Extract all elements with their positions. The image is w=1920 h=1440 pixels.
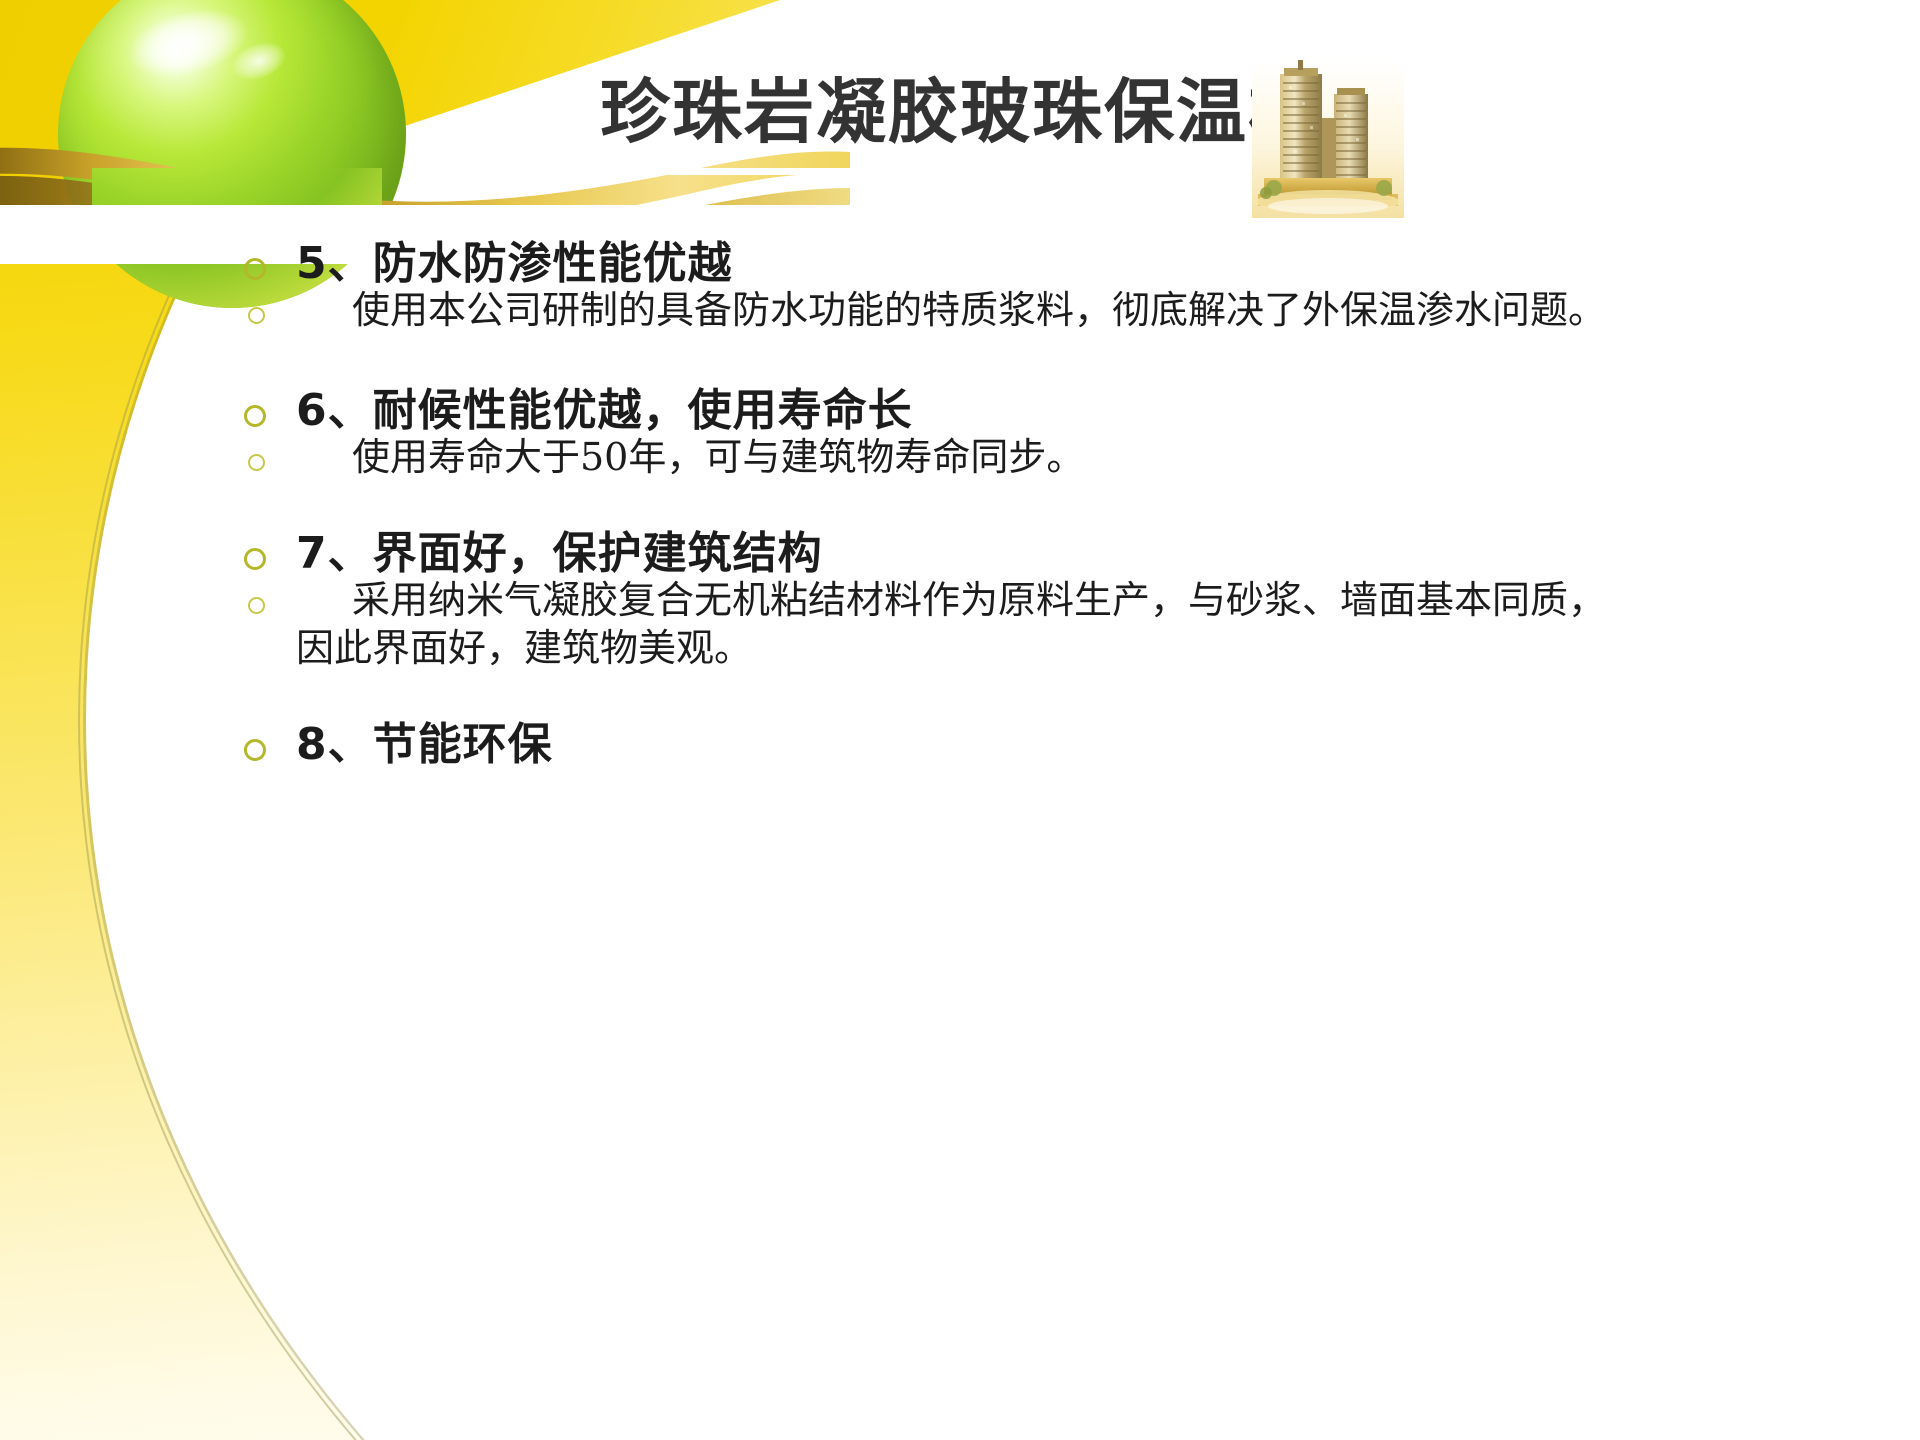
page-title: 珍珠岩凝胶玻珠保温板 [600,76,1320,150]
list-item: 8、节能环保 [236,717,1916,772]
bullet-marker-container [236,434,296,471]
item-heading: 8、节能环保 [296,717,553,772]
item-heading: 7、界面好，保护建筑结构 [296,526,823,581]
circle-outline-icon [248,307,265,324]
bullet-marker-container [236,383,296,427]
item-body: 使用寿命大于50年，可与建筑物寿命同步。 [296,434,1084,482]
bullet-marker-container [236,717,296,761]
circle-outline-icon [248,597,265,614]
circle-outline-icon [244,258,266,280]
spacer [236,482,1916,526]
slide-body-content: 5、防水防渗性能优越 使用本公司研制的具备防水功能的特质浆料，彻底解决了外保温渗… [236,236,1916,772]
circle-outline-icon [248,454,265,471]
presentation-slide: 珍珠岩凝胶玻珠保温板 [0,0,1920,1440]
circle-outline-icon [244,548,266,570]
item-body-line2: 因此界面好，建筑物美观。 [296,626,752,670]
list-item: 7、界面好，保护建筑结构 [236,526,1916,581]
building-photo-icon [1252,60,1404,218]
list-item-detail: 使用寿命大于50年，可与建筑物寿命同步。 [236,434,1916,482]
spacer [236,335,1916,383]
item-body-line1: 采用纳米气凝胶复合无机粘结材料作为原料生产，与砂浆、墙面基本同质， [352,578,1606,622]
item-heading: 5、防水防渗性能优越 [296,236,733,291]
item-body: 采用纳米气凝胶复合无机粘结材料作为原料生产，与砂浆、墙面基本同质，因此界面好，建… [296,577,1606,673]
bullet-marker-container [236,577,296,614]
item-body: 使用本公司研制的具备防水功能的特质浆料，彻底解决了外保温渗水问题。 [296,287,1606,335]
item-body-text: 使用寿命大于50年，可与建筑物寿命同步。 [352,435,1084,479]
item-heading: 6、耐候性能优越，使用寿命长 [296,383,913,438]
bullet-marker-container [236,526,296,570]
circle-outline-icon [244,739,266,761]
bullet-marker-container [236,236,296,280]
title-underline [560,168,1920,175]
list-item: 6、耐候性能优越，使用寿命长 [236,383,1916,438]
list-item-detail: 采用纳米气凝胶复合无机粘结材料作为原料生产，与砂浆、墙面基本同质，因此界面好，建… [236,577,1916,673]
circle-outline-icon [244,405,266,427]
item-body-text: 使用本公司研制的具备防水功能的特质浆料，彻底解决了外保温渗水问题。 [352,288,1606,332]
list-item-detail: 使用本公司研制的具备防水功能的特质浆料，彻底解决了外保温渗水问题。 [236,287,1916,335]
spacer [236,673,1916,717]
list-item: 5、防水防渗性能优越 [236,236,1916,291]
bullet-marker-container [236,287,296,324]
